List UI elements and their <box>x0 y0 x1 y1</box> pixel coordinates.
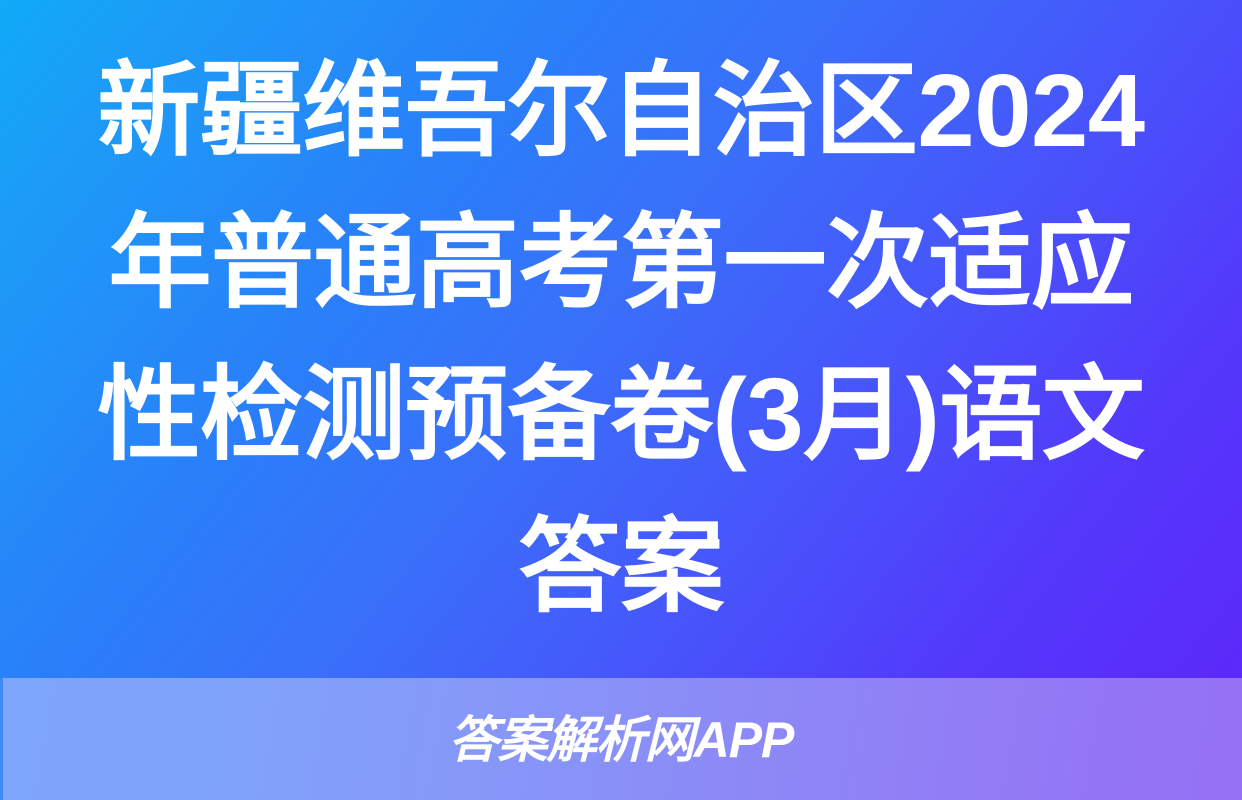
page-title: 新疆维吾尔自治区2024年普通高考第一次适应性检测预备卷(3月)语文答案 <box>78 35 1164 643</box>
footer-left-edge-strip <box>0 678 3 800</box>
brand-name: 答案解析网APP <box>449 712 794 768</box>
footer-brand-band: 答案解析网APP <box>0 678 1242 800</box>
hero-banner: 新疆维吾尔自治区2024年普通高考第一次适应性检测预备卷(3月)语文答案 <box>0 0 1242 678</box>
poster-root: 新疆维吾尔自治区2024年普通高考第一次适应性检测预备卷(3月)语文答案 答案解… <box>0 0 1242 800</box>
